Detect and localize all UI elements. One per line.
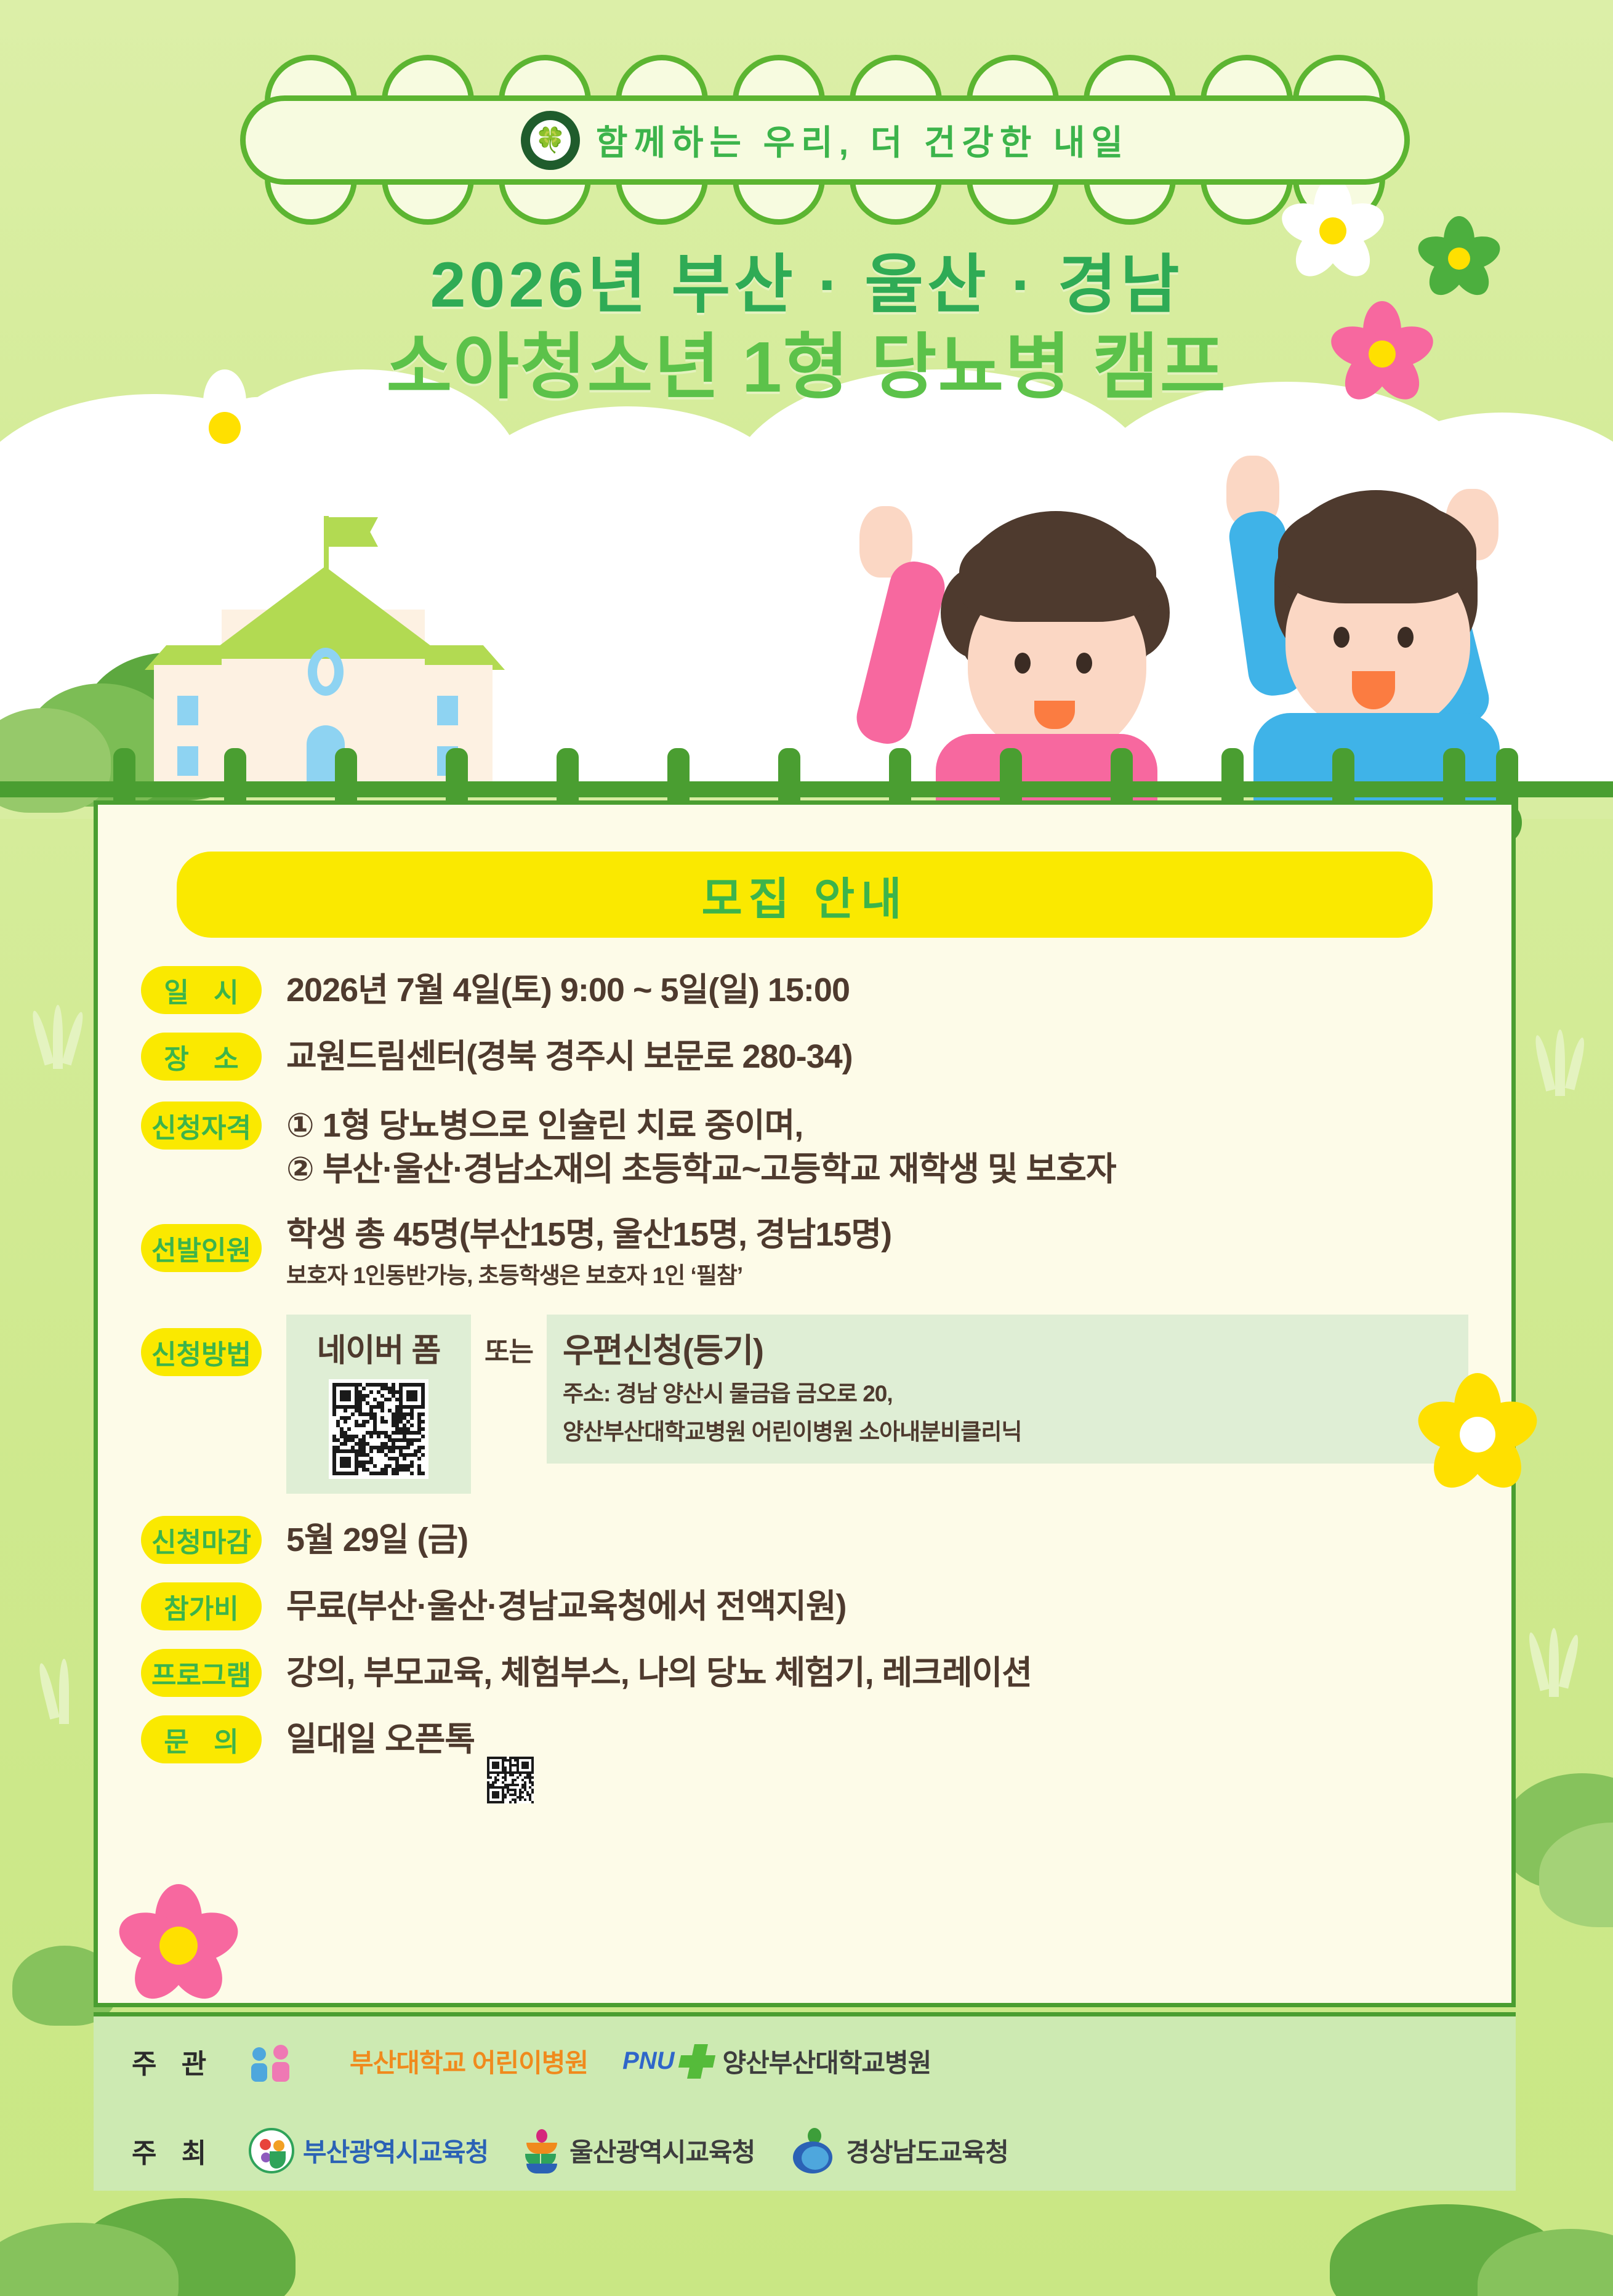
slogan-banner: 🍀 함께하는 우리, 더 건강한 내일 [240,95,1410,185]
apply-naver-label: 네이버 폼 [317,1324,441,1371]
info-row-contact: 문 의 일대일 오픈톡 [141,1715,1468,1803]
value-quota: 학생 총 45명(부산15명, 울산15명, 경남15명) [286,1213,1468,1257]
org-name-ulsan-education: 울산광역시교육청 [569,2132,755,2169]
badge-contact: 문 의 [141,1715,262,1763]
pnu-children-hospital-logo-icon [249,2039,341,2084]
footer-organizations: 주 관 부산대학교 어린이병원 PNU 양산부 [94,2012,1516,2191]
value-program: 강의, 부모교육, 체험부스, 나의 당뇨 체험기, 레크레이션 [286,1651,1468,1695]
org-name-pnu-childrens: 부산대학교 어린이병원 [350,2042,588,2080]
info-row-program: 프로그램 강의, 부모교육, 체험부스, 나의 당뇨 체험기, 레크레이션 [141,1649,1468,1697]
contact-label: 일대일 오픈톡 [286,1721,475,1758]
value-contact: 일대일 오픈톡 [286,1718,1468,1803]
gyeongnam-education-logo-icon [789,2128,837,2173]
flower-white-icon [166,369,283,486]
info-row-quota: 선발인원 학생 총 45명(부산15명, 울산15명, 경남15명) 보호자 1… [141,1210,1468,1291]
section-header-recruitment: 모집 안내 [177,852,1433,938]
note-quota: 보호자 1인동반가능, 초등학생은 보호자 1인 ‘필참’ [286,1260,1468,1291]
flower-yellow-icon [1416,1373,1539,1496]
section-header-label: 모집 안내 [702,863,908,927]
ulsan-education-logo-icon [523,2128,561,2173]
badge-location: 장 소 [141,1033,262,1081]
info-row-datetime: 일 시 2026년 7월 4일(토) 9:00 ~ 5일(일) 15:00 [141,966,1468,1014]
org-pnu-yangsan-hospital: PNU 양산부산대학교병원 [622,2042,931,2080]
footer-row-organizers: 주 최 부산광역시교육청 울산광역시교육청 [94,2106,1516,2195]
footer-row-hosts: 주 관 부산대학교 어린이병원 PNU 양산부 [94,2016,1516,2106]
info-rows: 일 시 2026년 7월 4일(토) 9:00 ~ 5일(일) 15:00 장 … [141,966,1468,1803]
value-fee: 무료(부산·울산·경남교육청에서 전액지원) [286,1585,1468,1629]
org-name-gyeongnam-education: 경상남도교육청 [846,2132,1008,2169]
info-notepad: 모집 안내 일 시 2026년 7월 4일(토) 9:00 ~ 5일(일) 15… [94,800,1516,2007]
camp-seal-logo: 🍀 [521,111,580,170]
info-row-eligibility: 신청자격 ① 1형 당뇨병으로 인슐린 치료 중이며, ② 부산·울산·경남소재… [141,1102,1468,1192]
value-eligibility-2: ② 부산·울산·경남소재의 초등학교~고등학교 재학생 및 보호자 [286,1148,1468,1191]
badge-program: 프로그램 [141,1649,262,1697]
poster-canvas: 🍀 함께하는 우리, 더 건강한 내일 2026년 부산 · 울산 · 경남 소… [0,0,1613,2296]
flower-pink-icon [117,1884,240,2007]
apply-panel-post: 우편신청(등기) 주소: 경남 양산시 물금읍 금오로 20, 양산부산대학교병… [547,1315,1468,1464]
value-eligibility-1: ① 1형 당뇨병으로 인슐린 치료 중이며, [286,1104,1468,1148]
pnu-yangsan-logo-icon: PNU [622,2044,714,2079]
qr-code-naver-form[interactable] [329,1379,428,1479]
slogan-text: 함께하는 우리, 더 건강한 내일 [596,115,1129,165]
info-row-apply-method: 신청방법 네이버 폼 또는 우편신청(등기) [141,1312,1468,1494]
value-datetime: 2026년 7월 4일(토) 9:00 ~ 5일(일) 15:00 [286,969,1468,1012]
badge-quota: 선발인원 [141,1224,262,1272]
org-busan-education-office: 부산광역시교육청 [249,2128,488,2173]
badge-apply-method: 신청방법 [141,1328,262,1376]
leaf-icon: 🍀 [535,128,566,153]
qr-code-openchat[interactable] [487,1757,534,1803]
title-line-1: 2026년 부산 · 울산 · 경남 [0,246,1613,324]
busan-education-logo-icon [249,2128,294,2173]
apply-or-text: 또는 [471,1315,547,1369]
org-ulsan-education-office: 울산광역시교육청 [523,2128,755,2173]
badge-deadline: 신청마감 [141,1516,262,1564]
badge-fee: 참가비 [141,1582,262,1630]
info-row-deadline: 신청마감 5월 29일 (금) [141,1516,1468,1564]
apply-post-title: 우편신청(등기) [563,1323,1450,1372]
footer-host-label: 주 관 [132,2042,249,2081]
apply-post-address-2: 양산부산대학교병원 어린이병원 소아내분비클리닉 [563,1416,1450,1448]
apply-panel-naver[interactable]: 네이버 폼 [286,1315,471,1494]
org-gyeongnam-education-office: 경상남도교육청 [789,2128,1008,2173]
org-name-busan-education: 부산광역시교육청 [303,2132,488,2169]
badge-datetime: 일 시 [141,966,262,1014]
badge-eligibility: 신청자격 [141,1102,262,1150]
org-name-pnu-yangsan: 양산부산대학교병원 [723,2042,931,2080]
org-pnu-childrens-hospital: 부산대학교 어린이병원 [249,2039,588,2084]
footer-organizer-label: 주 최 [132,2131,249,2170]
info-row-fee: 참가비 무료(부산·울산·경남교육청에서 전액지원) [141,1582,1468,1630]
school-house-illustration [129,493,511,788]
value-location: 교원드림센터(경북 경주시 보문로 280-34) [286,1035,1468,1079]
value-deadline: 5월 29일 (금) [286,1518,1468,1562]
apply-post-address-1: 주소: 경남 양산시 물금읍 금오로 20, [563,1378,1450,1410]
info-row-location: 장 소 교원드림센터(경북 경주시 보문로 280-34) [141,1033,1468,1081]
